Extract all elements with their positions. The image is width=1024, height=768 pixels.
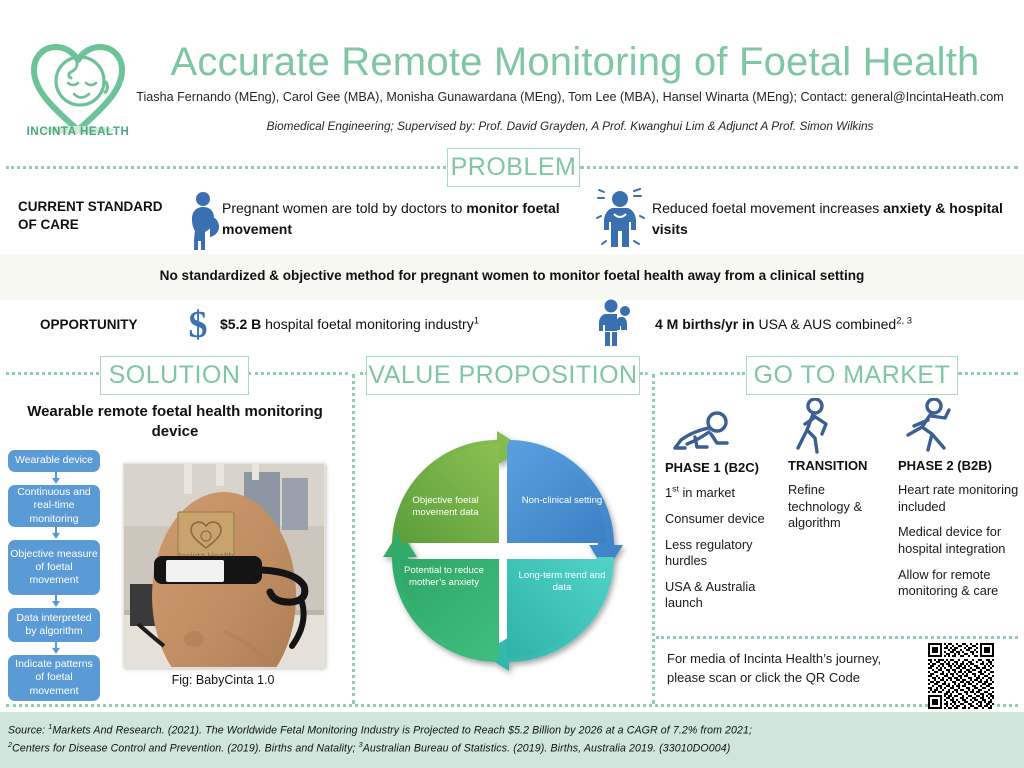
section-header-problem: PROBLEM bbox=[447, 148, 580, 187]
market-column-phase1: PHASE 1 (B2C) 1st in market Consumer dev… bbox=[665, 408, 773, 612]
quadrant-label-reduce-anxiety: Potential to reduce mother’s anxiety bbox=[390, 565, 498, 589]
problem-statement-right: Reduced foetal movement increases anxiet… bbox=[652, 198, 1012, 240]
flow-arrow-2 bbox=[52, 533, 60, 539]
anxious-woman-icon bbox=[596, 186, 648, 250]
transition-item-1: Refine technology & algorithm bbox=[788, 482, 880, 532]
divider-vertical-left bbox=[352, 374, 355, 704]
solution-heading: Wearable remote foetal health monitoring… bbox=[10, 402, 340, 443]
quadrant-label-non-clinical: Non-clinical setting bbox=[512, 495, 612, 507]
phase1-item-2: Consumer device bbox=[665, 511, 773, 528]
dollar-icon: $ bbox=[183, 302, 213, 346]
market-column-phase2: PHASE 2 (B2B) Heart rate monitoring incl… bbox=[898, 400, 1024, 600]
divider-problem-right bbox=[580, 166, 1018, 169]
flow-step-1: Wearable device bbox=[8, 450, 100, 472]
section-header-value-proposition: VALUE PROPOSITION bbox=[366, 356, 640, 395]
opportunity-label: OPPORTUNITY bbox=[40, 316, 138, 334]
poster-header: INCINTA HEALTH Accurate Remote Monitorin… bbox=[0, 0, 1024, 148]
divider-market-right bbox=[958, 372, 1018, 375]
problem-band-text: No standardized & objective method for p… bbox=[0, 268, 1024, 283]
poster-canvas: INCINTA HEALTH Accurate Remote Monitorin… bbox=[0, 0, 1024, 768]
divider-market-left bbox=[660, 372, 745, 375]
problem-statement-left: Pregnant women are told by doctors to mo… bbox=[222, 198, 577, 240]
phase1-title: PHASE 1 (B2C) bbox=[665, 460, 773, 475]
divider-value-right bbox=[640, 372, 648, 375]
phase1-item-1: 1st in market bbox=[665, 484, 773, 502]
svg-text:$: $ bbox=[189, 304, 208, 346]
value-proposition-wheel bbox=[378, 400, 628, 690]
divider-vertical-right bbox=[652, 374, 655, 704]
flow-step-2: Continuous and real-time monitoring bbox=[8, 485, 100, 527]
divider-problem-left bbox=[6, 166, 446, 169]
section-header-go-to-market: GO TO MARKET bbox=[746, 356, 958, 395]
qr-instruction-text: For media of Incinta Health’s journey, p… bbox=[667, 650, 907, 688]
poster-footer: Source: 1Markets And Research. (2021). T… bbox=[0, 712, 1024, 768]
footer-source-line-2: 2Centers for Disease Control and Prevent… bbox=[8, 740, 730, 755]
opportunity-births: 4 M births/yr in USA & AUS combined2, 3 bbox=[655, 314, 1015, 335]
phase2-item-2: Medical device for hospital integration bbox=[898, 524, 1024, 557]
flow-step-3: Objective measure of foetal movement bbox=[8, 540, 100, 595]
device-photo: Incinta Health bbox=[123, 463, 325, 668]
running-person-icon bbox=[898, 400, 1024, 454]
qr-code[interactable] bbox=[928, 643, 994, 709]
section-header-solution: SOLUTION bbox=[100, 356, 249, 395]
divider-solution-right bbox=[248, 372, 348, 375]
current-standard-label: CURRENT STANDARD OF CARE bbox=[18, 198, 178, 234]
flow-step-5: Indicate patterns of foetal movement bbox=[8, 655, 100, 701]
divider-footer bbox=[6, 704, 1018, 707]
flow-arrow-1 bbox=[52, 478, 60, 484]
figure-caption: Fig: BabyCinta 1.0 bbox=[123, 673, 323, 687]
divider-qr-top bbox=[656, 636, 1018, 639]
quadrant-label-objective-data: Objective foetal movement data bbox=[393, 495, 498, 519]
opportunity-market-size: $5.2 B hospital foetal monitoring indust… bbox=[220, 314, 570, 335]
phase1-item-3: Less regulatory hurdles bbox=[665, 537, 773, 570]
divider-solution-left bbox=[6, 372, 99, 375]
flow-step-4: Data interpreted by algorithm bbox=[8, 608, 100, 642]
supervisor-list: Biomedical Engineering; Supervised by: P… bbox=[120, 119, 1020, 133]
walking-person-icon bbox=[788, 400, 880, 454]
crawling-baby-icon bbox=[665, 408, 773, 456]
phase2-item-1: Heart rate monitoring included bbox=[898, 482, 1024, 515]
phase1-item-4: USA & Australia launch bbox=[665, 579, 773, 612]
page-title: Accurate Remote Monitoring of Foetal Hea… bbox=[140, 40, 1010, 84]
quadrant-label-long-term-trend: Long-term trend and data bbox=[512, 570, 612, 594]
market-column-transition: TRANSITION Refine technology & algorithm bbox=[788, 400, 880, 532]
flow-arrow-4 bbox=[52, 648, 60, 654]
author-list: Tiasha Fernando (MEng), Carol Gee (MBA),… bbox=[120, 90, 1020, 104]
flow-arrow-3 bbox=[52, 601, 60, 607]
phase2-title: PHASE 2 (B2B) bbox=[898, 458, 1024, 473]
phase2-item-3: Allow for remote monitoring & care bbox=[898, 567, 1024, 600]
footer-source-line-1: Source: 1Markets And Research. (2021). T… bbox=[8, 722, 752, 737]
mother-and-baby-icon bbox=[596, 298, 640, 348]
transition-title: TRANSITION bbox=[788, 458, 880, 473]
